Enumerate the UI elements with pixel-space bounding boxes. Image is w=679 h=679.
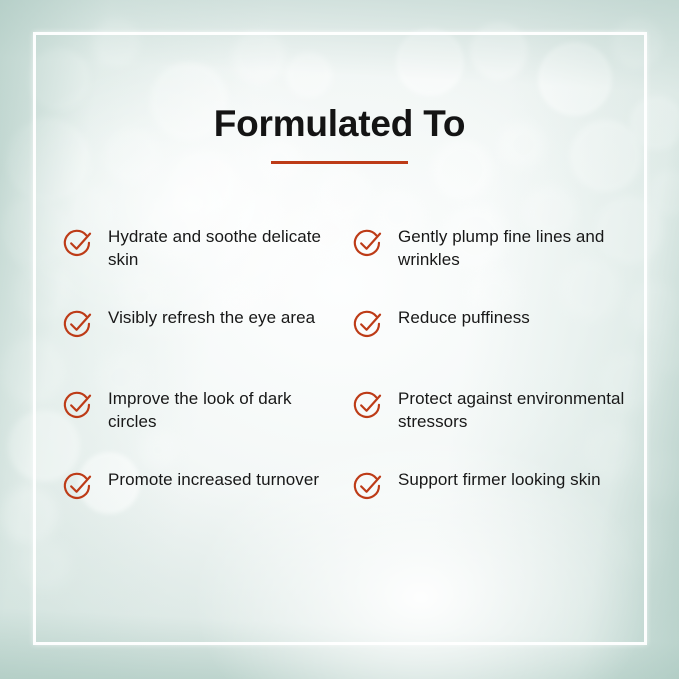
benefit-item: Hydrate and soothe delicate skin: [60, 219, 350, 300]
benefit-label: Protect against environmental stressors: [398, 381, 640, 433]
circle-check-icon: [60, 387, 96, 423]
benefit-item: Visibly refresh the eye area: [60, 300, 350, 381]
circle-check-icon: [60, 468, 96, 504]
benefit-item: Reduce puffiness: [350, 300, 640, 381]
formulated-to-poster: Formulated To Hydrate and soothe delicat…: [0, 0, 679, 679]
benefits-grid: Hydrate and soothe delicate skin Gently …: [60, 219, 640, 543]
title-underline-rule: [271, 161, 408, 164]
benefit-label: Visibly refresh the eye area: [108, 300, 315, 329]
heading-block: Formulated To: [0, 101, 679, 164]
benefit-item: Support firmer looking skin: [350, 462, 640, 543]
benefit-label: Hydrate and soothe delicate skin: [108, 219, 344, 271]
benefit-label: Support firmer looking skin: [398, 462, 601, 491]
benefit-label: Gently plump fine lines and wrinkles: [398, 219, 640, 271]
benefit-row: Promote increased turnover Support firme…: [60, 462, 640, 543]
circle-check-icon: [350, 387, 386, 423]
benefit-item: Improve the look of dark circles: [60, 381, 350, 462]
benefit-label: Reduce puffiness: [398, 300, 530, 329]
benefit-item: Promote increased turnover: [60, 462, 350, 543]
circle-check-icon: [60, 306, 96, 342]
circle-check-icon: [350, 468, 386, 504]
circle-check-icon: [350, 306, 386, 342]
benefit-row: Improve the look of dark circles Protect…: [60, 381, 640, 462]
benefit-row: Hydrate and soothe delicate skin Gently …: [60, 219, 640, 300]
benefit-item: Gently plump fine lines and wrinkles: [350, 219, 640, 300]
benefit-label: Improve the look of dark circles: [108, 381, 344, 433]
page-title: Formulated To: [0, 101, 679, 147]
benefit-label: Promote increased turnover: [108, 462, 319, 491]
circle-check-icon: [60, 225, 96, 261]
benefit-item: Protect against environmental stressors: [350, 381, 640, 462]
benefit-row: Visibly refresh the eye area Reduce puff…: [60, 300, 640, 381]
circle-check-icon: [350, 225, 386, 261]
